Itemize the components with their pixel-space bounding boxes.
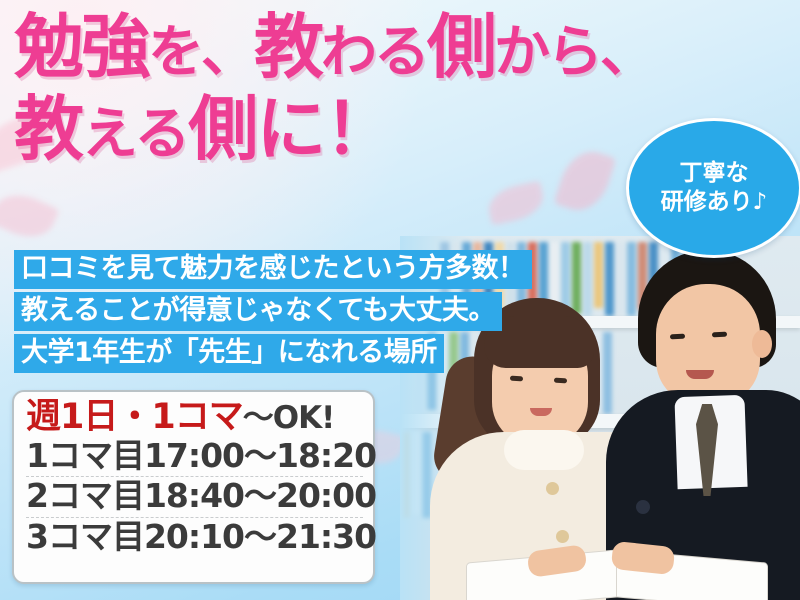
headline-seg: える bbox=[82, 102, 188, 167]
headline-seg: 教 bbox=[254, 6, 321, 88]
training-badge: 丁寧な 研修あり♪ bbox=[626, 118, 800, 258]
ear bbox=[752, 330, 772, 358]
schedule-highlight: 週1日・1コマ bbox=[26, 397, 243, 437]
schedule-card-title: 週1日・1コマ〜OK! bbox=[26, 398, 363, 437]
staff-photo bbox=[400, 236, 800, 600]
eye bbox=[670, 334, 685, 340]
eye bbox=[712, 332, 727, 338]
eye bbox=[554, 378, 567, 384]
turtleneck-collar bbox=[504, 430, 584, 470]
schedule-row: 3コマ目20:10〜21:30 bbox=[26, 518, 363, 558]
sweater-button bbox=[546, 482, 559, 495]
eye bbox=[510, 376, 523, 382]
ad-banner: 勉強を、教わる側から、 教える側に！ 丁寧な 研修あり♪ 口コミを見て魅力を感じ… bbox=[0, 0, 800, 600]
schedule-card: 週1日・1コマ〜OK! 1コマ目17:00〜18:20 2コマ目18:40〜20… bbox=[12, 390, 375, 584]
highlight-band-2: 教えることが得意じゃなくても大丈夫。 bbox=[14, 292, 502, 331]
sweater-button bbox=[556, 530, 569, 543]
period-label: 3コマ目 bbox=[26, 517, 144, 556]
headline-seg: 勉強 bbox=[14, 6, 148, 88]
headline-seg: 教 bbox=[14, 88, 82, 170]
period-time: 20:10〜21:30 bbox=[144, 517, 376, 556]
period-time: 18:40〜20:00 bbox=[144, 476, 376, 515]
face bbox=[656, 284, 760, 406]
suit-button bbox=[636, 500, 650, 514]
period-label: 1コマ目 bbox=[26, 436, 144, 475]
petal-decoration bbox=[0, 186, 60, 247]
period-time: 17:00〜18:20 bbox=[144, 436, 376, 475]
highlight-band-1: 口コミを見て魅力を感じたという方多数！ bbox=[14, 250, 532, 289]
headline-seg: わる bbox=[321, 20, 427, 85]
headline-line-1: 勉強を、教わる側から、 bbox=[14, 12, 800, 82]
headline-seg: を、 bbox=[148, 20, 254, 85]
period-label: 2コマ目 bbox=[26, 476, 144, 515]
badge-line-1: 丁寧な bbox=[680, 159, 749, 188]
badge-line-2: 研修あり♪ bbox=[661, 188, 768, 217]
schedule-row: 1コマ目17:00〜18:20 bbox=[26, 437, 363, 478]
open-book bbox=[466, 554, 766, 600]
schedule-row: 2コマ目18:40〜20:00 bbox=[26, 477, 363, 518]
headline-seg: 側 bbox=[188, 88, 256, 170]
headline-seg: に！ bbox=[256, 88, 392, 170]
petal-decoration bbox=[485, 181, 547, 226]
headline-seg: から、 bbox=[494, 20, 653, 85]
highlight-band-3: 大学1年生が「先生」になれる場所 bbox=[14, 334, 444, 373]
schedule-title-rest: 〜OK! bbox=[243, 400, 335, 436]
headline-seg: 側 bbox=[427, 6, 494, 88]
